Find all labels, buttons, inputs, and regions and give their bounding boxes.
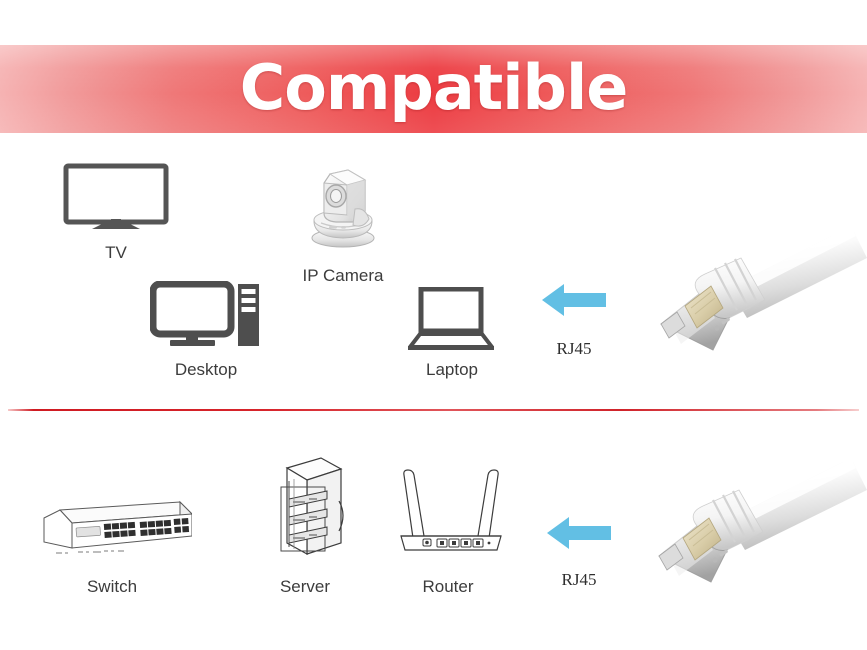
ip-camera-icon (303, 163, 383, 251)
device-server (265, 455, 347, 563)
rj45-cable-icon (655, 232, 867, 360)
rj45-cable-top (655, 232, 867, 360)
header-banner: Compatible (0, 45, 867, 133)
device-ip-camera (303, 163, 383, 251)
rj45-arrow-top (540, 280, 608, 320)
desktop-icon (150, 281, 262, 353)
compatibility-infographic: Compatible TV (0, 0, 867, 650)
device-label-tv: TV (62, 243, 170, 263)
device-label-router: Router (396, 577, 500, 597)
rj45-label-top: RJ45 (532, 339, 616, 359)
device-router (395, 466, 507, 556)
arrow-left-icon (545, 513, 613, 553)
laptop-icon (408, 287, 494, 351)
rj45-cable-icon (645, 462, 867, 590)
device-label-desktop: Desktop (146, 360, 266, 380)
server-rack-icon (265, 455, 347, 563)
device-label-laptop: Laptop (392, 360, 512, 380)
device-laptop (408, 287, 494, 351)
device-tv (62, 163, 170, 231)
page-title: Compatible (0, 45, 867, 133)
device-label-server: Server (253, 577, 357, 597)
rj45-cable-bottom (645, 462, 867, 590)
rj45-arrow-bottom (545, 513, 613, 553)
router-icon (395, 466, 507, 556)
device-desktop (150, 281, 262, 353)
tv-icon (62, 163, 170, 231)
device-switch (42, 496, 192, 564)
device-label-switch: Switch (52, 577, 172, 597)
device-label-ip-camera: IP Camera (275, 266, 411, 286)
arrow-left-icon (540, 280, 608, 320)
network-switch-icon (42, 496, 192, 564)
section-divider (8, 409, 859, 411)
rj45-label-bottom: RJ45 (537, 570, 621, 590)
